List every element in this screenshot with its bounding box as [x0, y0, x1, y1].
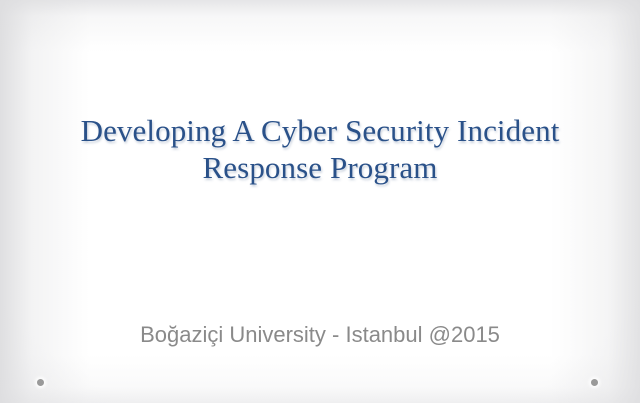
bottom-left-dot: [37, 379, 44, 386]
slide-title: Developing A Cyber Security Incident Res…: [40, 112, 600, 186]
slide-subtitle: Boğaziçi University - Istanbul @2015: [40, 321, 600, 349]
slide-content: Developing A Cyber Security Incident Res…: [0, 0, 640, 403]
bottom-right-dot: [591, 379, 598, 386]
presentation-title-slide: Developing A Cyber Security Incident Res…: [0, 0, 640, 403]
